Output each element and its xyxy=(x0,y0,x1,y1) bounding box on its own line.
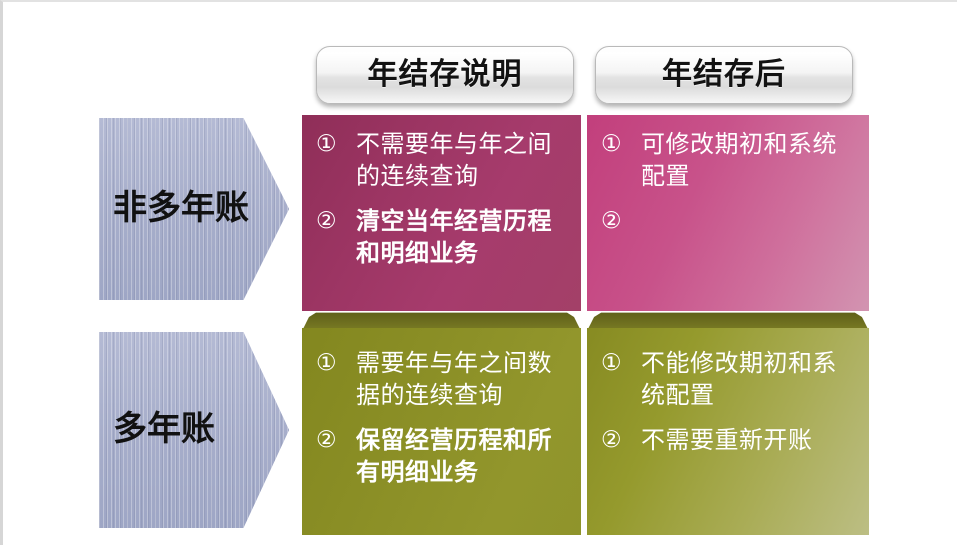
list-item-text: 需要年与年之间数据的连续查询 xyxy=(356,348,569,411)
list-item: ① 不需要年与年之间的连续查询 xyxy=(314,129,569,192)
list-item-number: ② xyxy=(314,425,356,455)
block-body: ① 需要年与年之间数据的连续查询 ② 保留经营历程和所有明细业务 xyxy=(302,328,581,535)
row-label-arrow-non-multi-year-account: 非多年账 xyxy=(99,118,289,300)
list-item: ① 可修改期初和系统配置 xyxy=(599,129,857,192)
block-body: ① 不能修改期初和系统配置 ② 不需要重新开账 xyxy=(587,328,869,535)
list-item-number: ① xyxy=(599,129,641,159)
item-list: ① 需要年与年之间数据的连续查询 ② 保留经营历程和所有明细业务 xyxy=(302,328,581,499)
list-item-text: 保留经营历程和所有明细业务 xyxy=(356,425,569,488)
cell-non-multi-year-after: ① 可修改期初和系统配置 ② xyxy=(587,115,869,311)
comparison-slide: 年结存说明 年结存后 非多年账 ① 不需要年与年之间的连续查询 ② 清空当年经营… xyxy=(0,0,957,545)
list-item-text: 不能修改期初和系统配置 xyxy=(641,348,857,411)
item-list: ① 可修改期初和系统配置 ② xyxy=(587,115,869,247)
column-header-label: 年结存说明 xyxy=(368,60,523,90)
list-item-text: 不需要年与年之间的连续查询 xyxy=(356,129,569,192)
list-item-text: 不需要重新开账 xyxy=(641,425,813,457)
list-item: ① 需要年与年之间数据的连续查询 xyxy=(314,348,569,411)
list-item-number: ② xyxy=(599,206,641,236)
row-label-text: 非多年账 xyxy=(99,190,249,227)
column-header-button-year-close-description[interactable]: 年结存说明 xyxy=(316,46,574,104)
list-item: ② 保留经营历程和所有明细业务 xyxy=(314,425,569,488)
cell-multi-year-description: ① 需要年与年之间数据的连续查询 ② 保留经营历程和所有明细业务 xyxy=(302,311,581,535)
column-header-button-after-year-close[interactable]: 年结存后 xyxy=(595,46,853,104)
list-item: ② 清空当年经营历程和明细业务 xyxy=(314,206,569,269)
list-item-number: ① xyxy=(314,129,356,159)
item-list: ① 不能修改期初和系统配置 ② 不需要重新开账 xyxy=(587,328,869,467)
column-header-label: 年结存后 xyxy=(662,60,786,90)
cell-multi-year-after: ① 不能修改期初和系统配置 ② 不需要重新开账 xyxy=(587,311,869,535)
list-item: ② xyxy=(599,206,857,236)
cell-non-multi-year-description: ① 不需要年与年之间的连续查询 ② 清空当年经营历程和明细业务 xyxy=(302,115,581,311)
list-item-text: 可修改期初和系统配置 xyxy=(641,129,857,192)
item-list: ① 不需要年与年之间的连续查询 ② 清空当年经营历程和明细业务 xyxy=(302,115,581,280)
row-label-text: 多年账 xyxy=(99,411,215,448)
list-item-number: ② xyxy=(599,425,641,455)
list-item-number: ① xyxy=(314,348,356,378)
list-item: ① 不能修改期初和系统配置 xyxy=(599,348,857,411)
list-item-text: 清空当年经营历程和明细业务 xyxy=(356,206,569,269)
list-item-number: ② xyxy=(314,206,356,236)
list-item-number: ① xyxy=(599,348,641,378)
row-label-arrow-multi-year-account: 多年账 xyxy=(99,332,289,528)
list-item: ② 不需要重新开账 xyxy=(599,425,857,457)
